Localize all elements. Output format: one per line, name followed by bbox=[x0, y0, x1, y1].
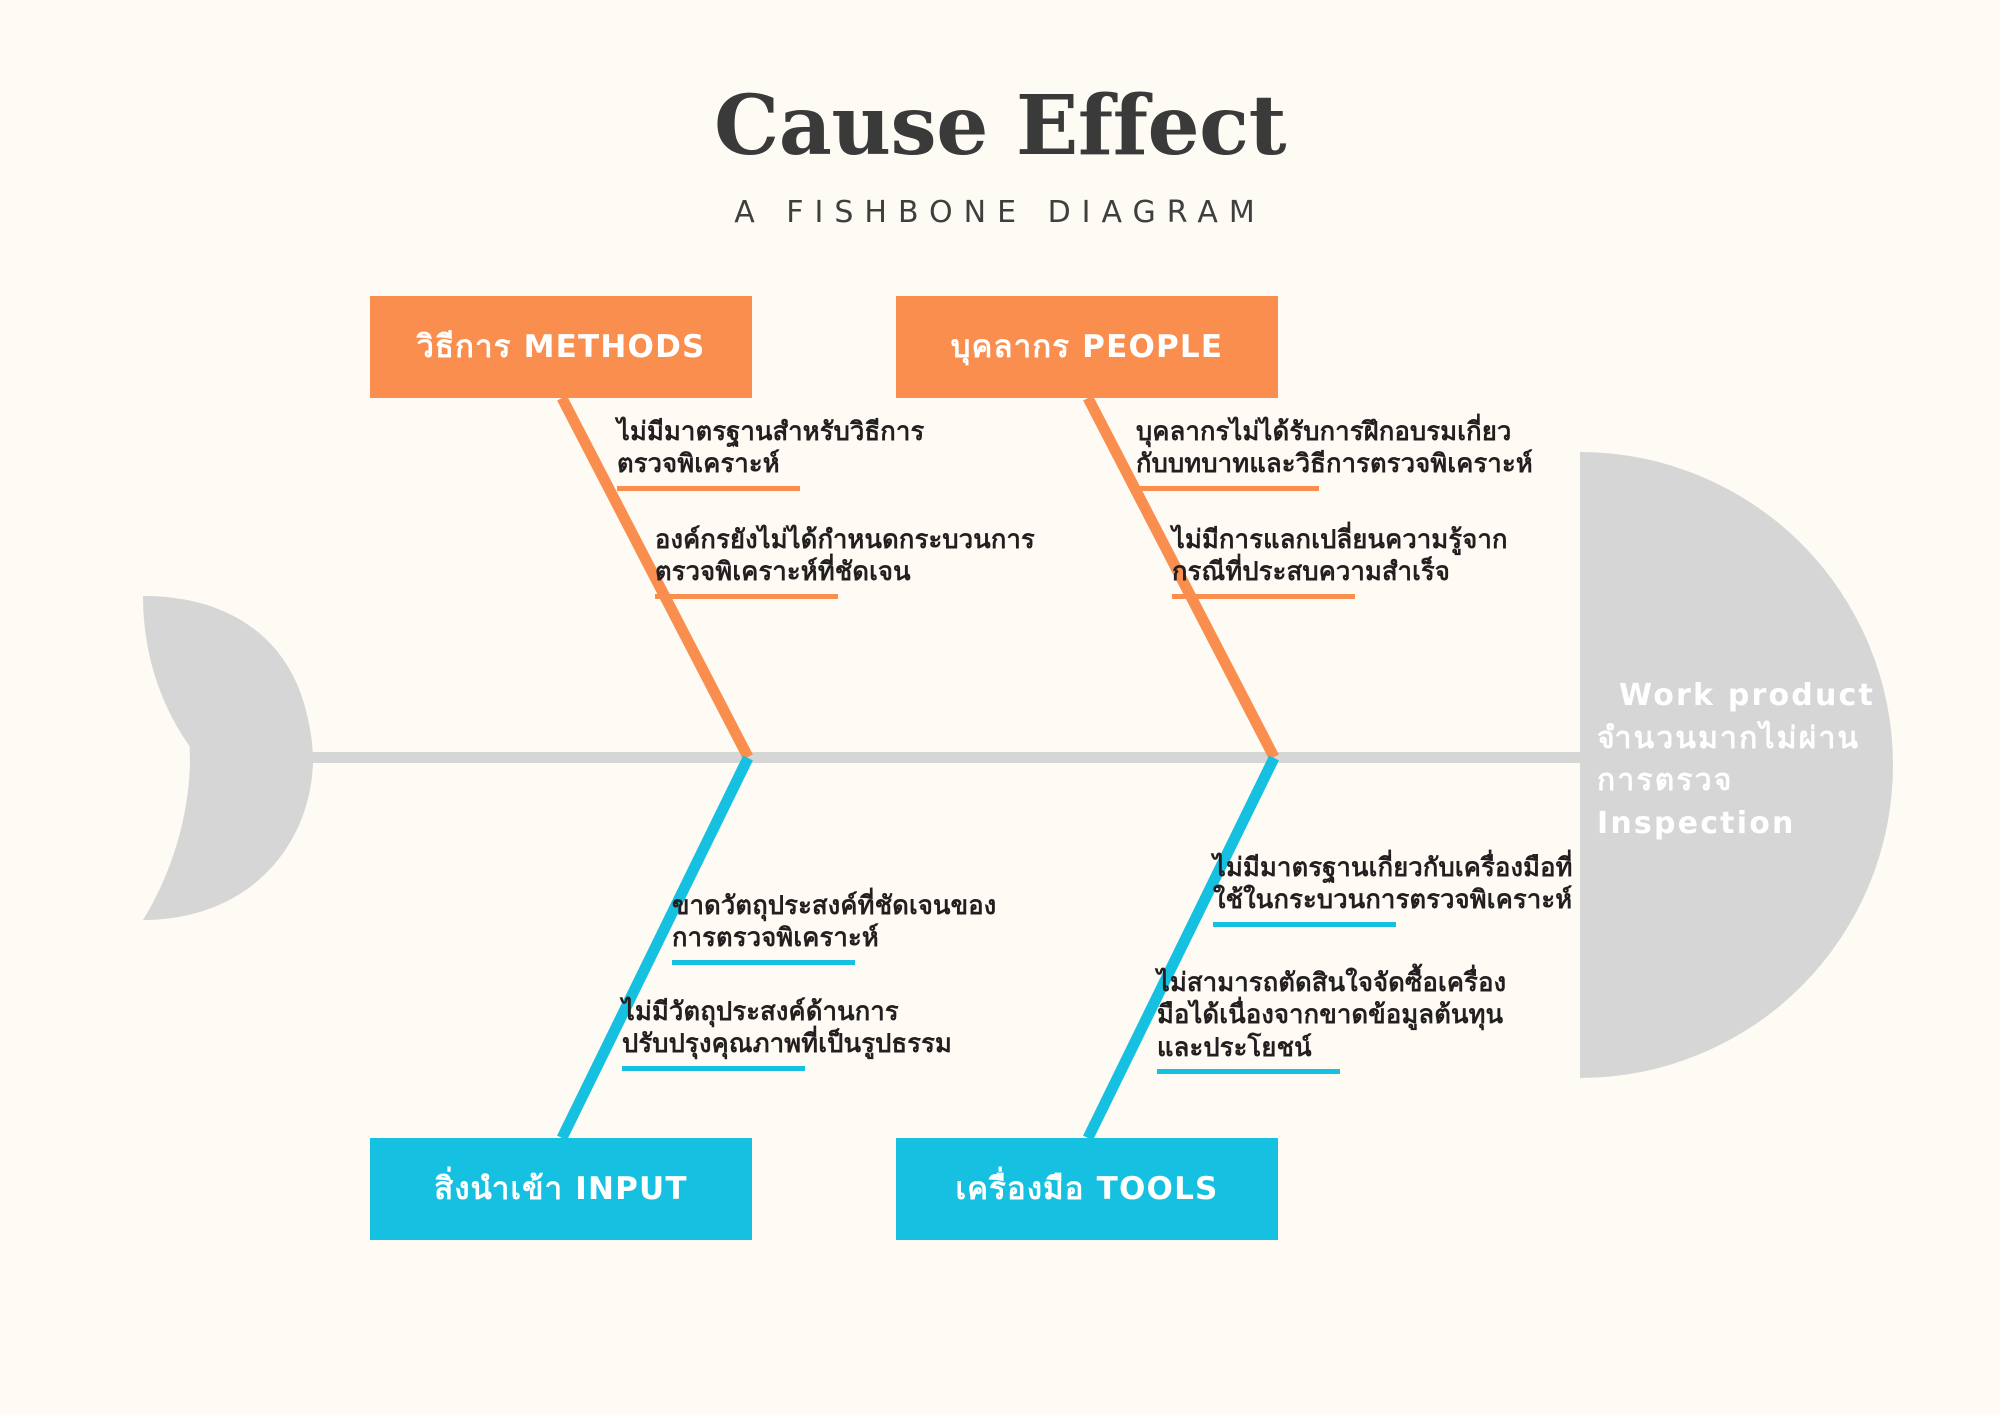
cause-input-1[interactable]: ขาดวัตถุประสงค์ที่ชัดเจนของ การตรวจพิเคร… bbox=[672, 890, 996, 965]
cause-line: ใช้ในกระบวนการตรวจพิเคราะห์ bbox=[1213, 884, 1573, 916]
cause-methods-2[interactable]: องค์กรยังไม่ได้กำหนดกระบวนการ ตรวจพิเครา… bbox=[655, 524, 1035, 599]
cause-underline bbox=[655, 594, 838, 599]
effect-line: Work product bbox=[1597, 675, 1875, 718]
cause-line: องค์กรยังไม่ได้กำหนดกระบวนการ bbox=[655, 524, 1035, 556]
effect-line: การตรวจ bbox=[1597, 760, 1875, 803]
cause-line: การตรวจพิเคราะห์ bbox=[672, 922, 996, 954]
cause-line: และประโยชน์ bbox=[1157, 1032, 1506, 1064]
category-box-tools[interactable]: เครื่องมือ TOOLS bbox=[896, 1138, 1278, 1240]
cause-line: กับบทบาทและวิธีการตรวจพิเคราะห์ bbox=[1136, 448, 1533, 480]
category-box-people[interactable]: บุคลากร PEOPLE bbox=[896, 296, 1278, 398]
cause-line: ตรวจพิเคราะห์ที่ชัดเจน bbox=[655, 556, 1035, 588]
category-label-methods: วิธีการ METHODS bbox=[416, 332, 705, 363]
effect-line: จำนวนมากไม่ผ่าน bbox=[1597, 718, 1875, 761]
cause-people-1[interactable]: บุคลากรไม่ได้รับการฝึกอบรมเกี่ยว กับบทบา… bbox=[1136, 416, 1533, 491]
fishbone-diagram-canvas: Cause Effect A FISHBONE DIAGRAM วิธีการ … bbox=[0, 0, 2000, 1414]
cause-line: ปรับปรุงคุณภาพที่เป็นรูปธรรม bbox=[622, 1028, 952, 1060]
effect-statement: Work product จำนวนมากไม่ผ่าน การตรวจ Ins… bbox=[1597, 675, 1875, 845]
cause-tools-2[interactable]: ไม่สามารถตัดสินใจจัดซื้อเครื่อง มือได้เน… bbox=[1157, 967, 1506, 1074]
category-label-people: บุคลากร PEOPLE bbox=[951, 332, 1224, 363]
cause-underline bbox=[622, 1066, 805, 1071]
cause-line: ตรวจพิเคราะห์ bbox=[617, 448, 924, 480]
category-label-tools: เครื่องมือ TOOLS bbox=[955, 1174, 1218, 1205]
cause-line: ไม่มีมาตรฐานสำหรับวิธีการ bbox=[617, 416, 924, 448]
cause-line: ไม่มีมาตรฐานเกี่ยวกับเครื่องมือที่ bbox=[1213, 852, 1573, 884]
cause-underline bbox=[1213, 922, 1396, 927]
category-box-methods[interactable]: วิธีการ METHODS bbox=[370, 296, 752, 398]
cause-underline bbox=[617, 486, 800, 491]
cause-underline bbox=[1136, 486, 1319, 491]
cause-underline bbox=[672, 960, 855, 965]
cause-line: ไม่มีการแลกเปลี่ยนความรู้จาก bbox=[1172, 524, 1508, 556]
effect-line: Inspection bbox=[1597, 803, 1875, 846]
cause-line: ขาดวัตถุประสงค์ที่ชัดเจนของ bbox=[672, 890, 996, 922]
cause-tools-1[interactable]: ไม่มีมาตรฐานเกี่ยวกับเครื่องมือที่ ใช้ใน… bbox=[1213, 852, 1573, 927]
cause-underline bbox=[1157, 1069, 1340, 1074]
cause-people-2[interactable]: ไม่มีการแลกเปลี่ยนความรู้จาก กรณีที่ประส… bbox=[1172, 524, 1508, 599]
category-box-input[interactable]: สิ่งนำเข้า INPUT bbox=[370, 1138, 752, 1240]
cause-input-2[interactable]: ไม่มีวัตถุประสงค์ด้านการ ปรับปรุงคุณภาพท… bbox=[622, 996, 952, 1071]
cause-line: ไม่สามารถตัดสินใจจัดซื้อเครื่อง bbox=[1157, 967, 1506, 999]
cause-line: บุคลากรไม่ได้รับการฝึกอบรมเกี่ยว bbox=[1136, 416, 1533, 448]
cause-line: มือได้เนื่องจากขาดข้อมูลต้นทุน bbox=[1157, 999, 1506, 1031]
fish-tail-lower bbox=[143, 757, 313, 920]
fish-spine bbox=[310, 752, 1592, 763]
cause-line: ไม่มีวัตถุประสงค์ด้านการ bbox=[622, 996, 952, 1028]
rib-tools bbox=[1088, 758, 1274, 1138]
cause-methods-1[interactable]: ไม่มีมาตรฐานสำหรับวิธีการ ตรวจพิเคราะห์ bbox=[617, 416, 924, 491]
cause-underline bbox=[1172, 594, 1355, 599]
cause-line: กรณีที่ประสบความสำเร็จ bbox=[1172, 556, 1508, 588]
category-label-input: สิ่งนำเข้า INPUT bbox=[434, 1174, 688, 1205]
